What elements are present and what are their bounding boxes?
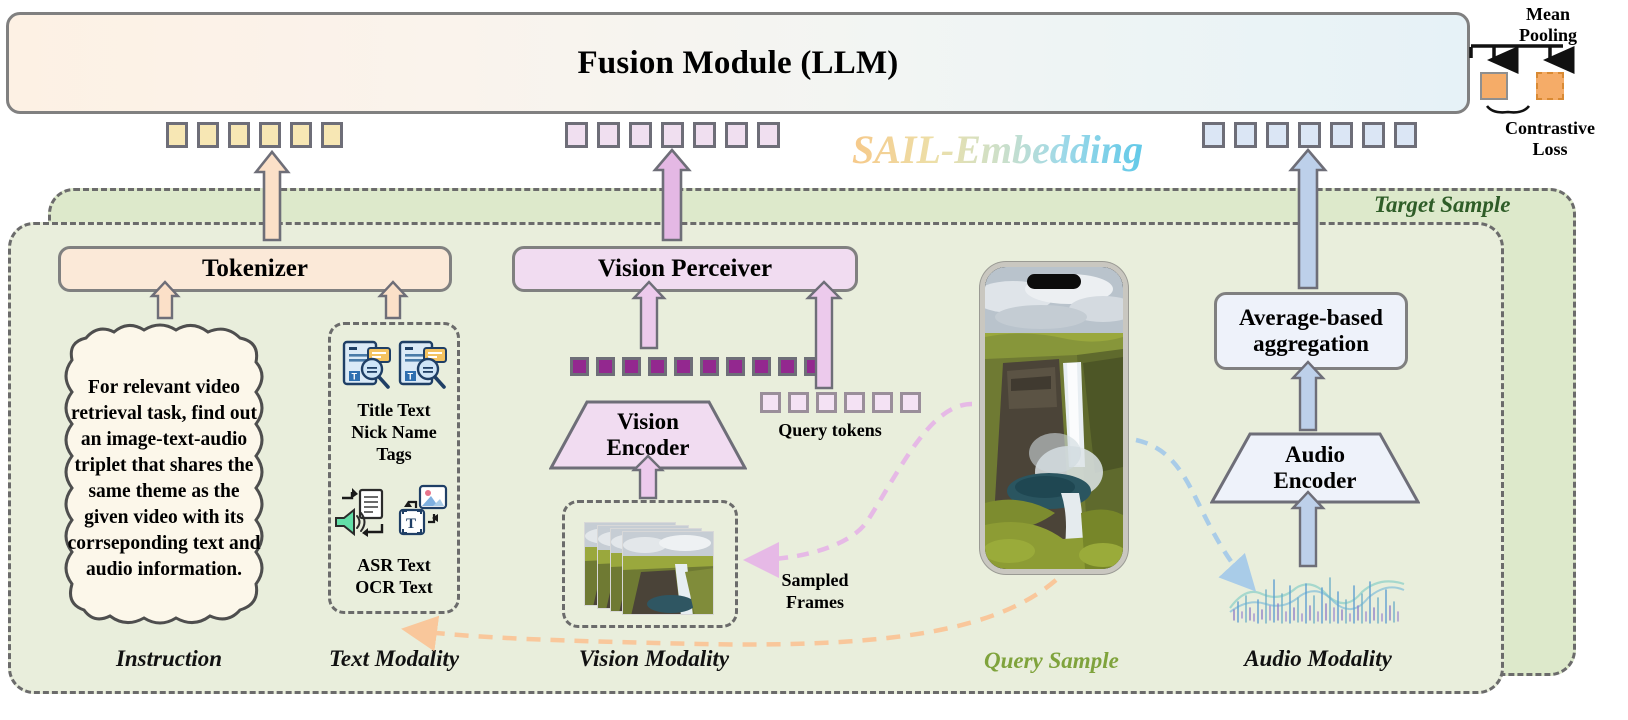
vision-token bbox=[661, 122, 684, 148]
audio-token bbox=[1234, 122, 1257, 148]
vision-feature-token bbox=[570, 357, 589, 376]
vision-encoder-line1: Vision bbox=[617, 409, 679, 434]
instruction-cloud: For relevant video retrieval task, find … bbox=[52, 322, 276, 635]
mean-pooling-line2: Pooling bbox=[1478, 25, 1618, 46]
mean-pooling-line1: Mean bbox=[1478, 4, 1618, 25]
instruction-caption: Instruction bbox=[104, 646, 234, 672]
audio-encoder-line2: Encoder bbox=[1273, 468, 1356, 493]
query-token bbox=[760, 392, 781, 413]
tokenizer-box: Tokenizer bbox=[58, 246, 452, 292]
mean-pooling-label: Mean Pooling bbox=[1478, 4, 1618, 45]
sampled-frames-label: Sampled Frames bbox=[760, 570, 870, 614]
sail-embedding-wordmark: SAIL-Embedding bbox=[852, 126, 1143, 173]
query-token bbox=[900, 392, 921, 413]
title-text-line: Title Text bbox=[334, 400, 454, 422]
vision-feature-token bbox=[804, 357, 823, 376]
contrastive-loss-brace bbox=[1487, 106, 1529, 112]
sampled-frames-stack bbox=[584, 522, 714, 614]
average-aggregation-box: Average-based aggregation bbox=[1214, 292, 1408, 370]
query-token bbox=[844, 392, 865, 413]
svg-text:T: T bbox=[408, 372, 414, 382]
vision-token bbox=[597, 122, 620, 148]
audio-encoder-line1: Audio bbox=[1285, 442, 1345, 467]
vision-encoder-line2: Encoder bbox=[606, 435, 689, 460]
audio-token-row bbox=[1202, 122, 1417, 148]
video-frame bbox=[622, 531, 714, 615]
audio-token bbox=[1266, 122, 1289, 148]
document-search-icon: T bbox=[396, 338, 450, 397]
vision-encoder-box: Vision Encoder bbox=[549, 400, 747, 470]
audio-encoder-label: Audio Encoder bbox=[1210, 432, 1420, 504]
vision-feature-token bbox=[596, 357, 615, 376]
text-token bbox=[259, 122, 281, 148]
audio-encoder-box: Audio Encoder bbox=[1210, 432, 1420, 504]
text-token bbox=[290, 122, 312, 148]
vision-feature-token bbox=[674, 357, 693, 376]
document-search-icon: T bbox=[340, 338, 394, 397]
query-embedding-square bbox=[1480, 72, 1508, 100]
vision-token bbox=[629, 122, 652, 148]
audio-modality-caption: Audio Modality bbox=[1232, 646, 1404, 672]
query-token bbox=[872, 392, 893, 413]
average-aggregation-label: Average-based aggregation bbox=[1239, 305, 1383, 357]
audio-to-text-icon bbox=[332, 484, 390, 547]
vision-modality-caption: Vision Modality bbox=[572, 646, 736, 672]
asr-text-line: ASR Text bbox=[334, 555, 454, 577]
query-token-row bbox=[760, 392, 921, 413]
contrastive-loss-line2: Loss bbox=[1474, 139, 1626, 160]
target-embedding-square bbox=[1536, 72, 1564, 100]
audio-token bbox=[1202, 122, 1225, 148]
audio-token bbox=[1330, 122, 1353, 148]
phone-mockup bbox=[980, 262, 1128, 574]
svg-text:T: T bbox=[352, 372, 358, 382]
fusion-module-label: Fusion Module (LLM) bbox=[578, 45, 899, 82]
vision-encoder-label: Vision Encoder bbox=[549, 400, 747, 470]
vision-feature-token bbox=[648, 357, 667, 376]
avg-agg-line1: Average-based bbox=[1239, 305, 1383, 330]
text-token bbox=[228, 122, 250, 148]
phone-notch bbox=[1027, 274, 1081, 289]
vision-perceiver-box: Vision Perceiver bbox=[512, 246, 858, 292]
tokenizer-label: Tokenizer bbox=[202, 255, 308, 283]
avg-agg-line2: aggregation bbox=[1253, 331, 1369, 356]
ocr-text-line: OCR Text bbox=[334, 577, 454, 599]
diagram-canvas: Fusion Module (LLM) Mean Pooling Contras… bbox=[0, 0, 1628, 720]
contrastive-loss-line1: Contrastive bbox=[1474, 118, 1626, 139]
query-token bbox=[788, 392, 809, 413]
audio-token bbox=[1362, 122, 1385, 148]
fusion-module-box: Fusion Module (LLM) bbox=[6, 12, 1470, 114]
text-modality-caption: Text Modality bbox=[318, 646, 470, 672]
vision-feature-token bbox=[622, 357, 641, 376]
vision-token-row bbox=[565, 122, 780, 148]
svg-text:T: T bbox=[406, 516, 416, 532]
vision-token bbox=[725, 122, 748, 148]
vision-feature-token-row bbox=[570, 357, 823, 376]
vision-feature-token bbox=[700, 357, 719, 376]
vision-token bbox=[565, 122, 588, 148]
tags-line: Tags bbox=[334, 444, 454, 466]
vision-feature-token bbox=[778, 357, 797, 376]
query-token bbox=[816, 392, 837, 413]
text-modality-group1-label: Title Text Nick Name Tags bbox=[334, 400, 454, 466]
vision-feature-token bbox=[752, 357, 771, 376]
audio-waveform bbox=[1228, 568, 1406, 626]
target-sample-label: Target Sample bbox=[1374, 192, 1511, 218]
vision-token bbox=[757, 122, 780, 148]
text-token bbox=[166, 122, 188, 148]
vision-feature-token bbox=[726, 357, 745, 376]
vision-perceiver-label: Vision Perceiver bbox=[598, 255, 772, 283]
text-token bbox=[321, 122, 343, 148]
text-modality-group2-label: ASR Text OCR Text bbox=[334, 555, 454, 599]
instruction-text: For relevant video retrieval task, find … bbox=[66, 344, 262, 614]
contrastive-loss-label: Contrastive Loss bbox=[1474, 118, 1626, 159]
phone-screen-waterfall-image bbox=[985, 267, 1123, 569]
sampled-frames-line2: Frames bbox=[760, 592, 870, 614]
query-sample-label: Query Sample bbox=[984, 648, 1119, 674]
image-to-text-icon: T bbox=[392, 480, 450, 543]
sampled-frames-line1: Sampled bbox=[760, 570, 870, 592]
audio-token bbox=[1394, 122, 1417, 148]
vision-token bbox=[693, 122, 716, 148]
query-tokens-label: Query tokens bbox=[768, 420, 892, 441]
mean-pooling-arrows bbox=[1471, 46, 1563, 60]
audio-token bbox=[1298, 122, 1321, 148]
nick-name-line: Nick Name bbox=[334, 422, 454, 444]
text-token-row bbox=[166, 122, 343, 148]
text-token bbox=[197, 122, 219, 148]
